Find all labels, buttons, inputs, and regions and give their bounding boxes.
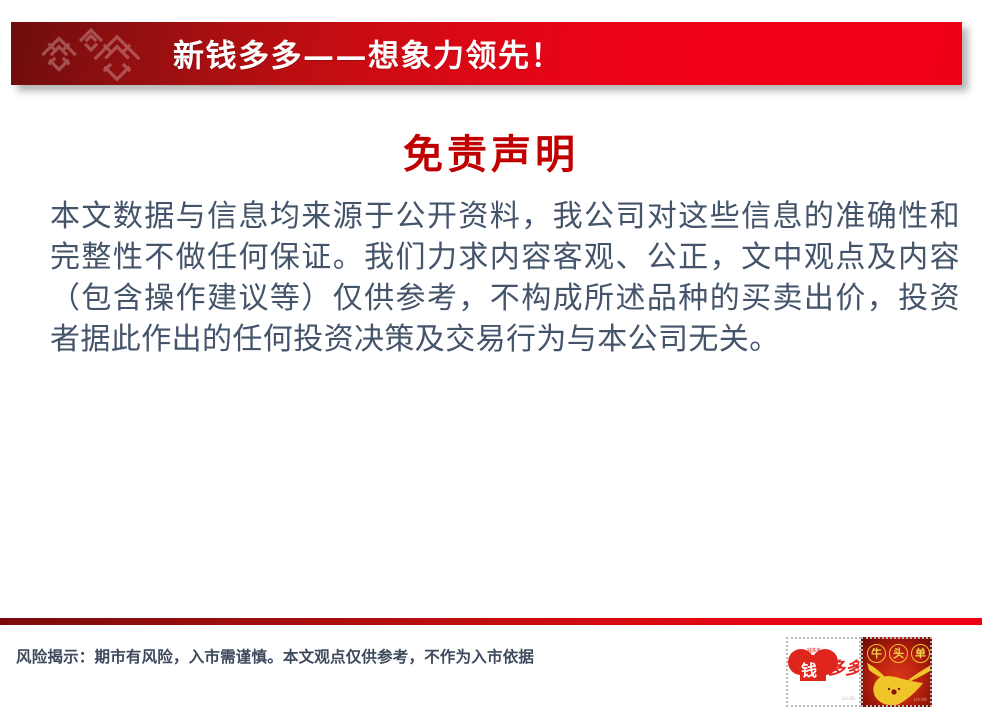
circle-char-tou: 头 [889,644,908,663]
header-banner: 新钱多多——想象力领先！ [11,22,962,85]
page-title: 免责声明 [0,122,982,180]
stamp-corner-code: LH-05 [842,698,855,703]
chinese-knot-lattice-icon [29,24,154,84]
circle-char-dan: 单 [911,644,930,663]
heart-character: 钱 [801,663,817,679]
footer-logo-group: 钱多多 钱 多多 LH-05 牛 头 单 [786,637,932,707]
stamp-wordmark: 多多 [828,661,861,678]
stamp-circle-row: 牛 头 单 [867,644,930,663]
qian-duo-duo-stamp: 钱多多 钱 多多 LH-05 [786,637,861,707]
heart-tiny-text: 钱多多 [807,649,821,654]
niu-tou-dan-stamp: 牛 头 单 [861,637,932,707]
slide-canvas: 新钱多多——想象力领先！ 免责声明 本文数据与信息均来源于公开资料，我公司对这些… [0,0,982,720]
stamp-corner-code: LH-06 [914,699,927,704]
banner-title: 新钱多多——想象力领先！ [173,30,563,75]
footer-divider [0,618,982,625]
circle-char-niu: 牛 [867,644,886,663]
risk-disclosure-note: 风险揭示：期市有风险，入市需谨慎。本文观点仅供参考，不作为入市依据 [16,645,534,667]
disclaimer-body-text: 本文数据与信息均来源于公开资料，我公司对这些信息的准确性和完整性不做任何保证。我… [50,196,960,360]
